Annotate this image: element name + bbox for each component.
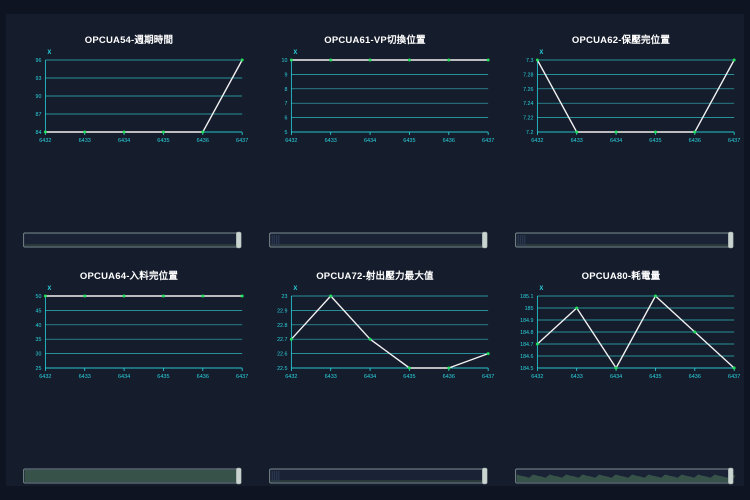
chart-cell-0: OPCUA54-週期時間 X96939087846432643364346435… [6,14,252,250]
svg-text:7.26: 7.26 [523,87,533,93]
svg-text:22.6: 22.6 [277,352,287,358]
svg-text:6435: 6435 [157,138,169,144]
svg-text:6435: 6435 [649,138,661,144]
svg-text:6437: 6437 [482,138,494,144]
datazoom-svg-3[interactable] [6,466,252,486]
svg-text:30: 30 [36,352,42,358]
svg-text:84: 84 [36,130,42,136]
svg-text:6435: 6435 [157,374,169,380]
datazoom-svg-0[interactable] [6,230,252,250]
svg-text:5: 5 [284,130,287,136]
svg-text:6432: 6432 [531,374,543,380]
svg-text:6437: 6437 [728,138,740,144]
svg-text:185: 185 [525,306,534,312]
svg-text:6432: 6432 [39,374,51,380]
svg-text:10: 10 [282,58,288,64]
chart-svg-1: X1098765643264336434643564366437 [252,44,498,154]
chart-card-opcua64[interactable]: OPCUA64-入料完位置 X5045403530256432643364346… [6,250,252,486]
svg-text:184.8: 184.8 [520,330,533,336]
svg-text:6436: 6436 [443,374,455,380]
svg-text:22.9: 22.9 [277,308,287,314]
svg-text:6433: 6433 [79,138,91,144]
svg-text:45: 45 [36,308,42,314]
svg-text:96: 96 [36,58,42,64]
datazoom-slider[interactable] [252,230,498,250]
chart-plot-area[interactable]: X2322.922.822.722.622.564326433643464356… [252,280,498,390]
chart-svg-3: X504540353025643264336434643564366437 [6,280,252,390]
svg-text:6432: 6432 [285,374,297,380]
svg-text:7.24: 7.24 [523,101,533,107]
svg-text:6434: 6434 [364,138,376,144]
svg-text:6434: 6434 [610,138,622,144]
svg-text:23: 23 [282,294,288,300]
svg-text:22.8: 22.8 [277,323,287,329]
chart-svg-5: X185.1185184.9184.8184.7184.6184.5643264… [498,280,744,390]
svg-text:87: 87 [36,112,42,118]
svg-text:6432: 6432 [285,138,297,144]
chart-cell-4: OPCUA72-射出壓力最大值 X2322.922.822.722.622.56… [252,250,498,486]
svg-text:6436: 6436 [197,374,209,380]
svg-text:90: 90 [36,94,42,100]
chart-card-opcua61[interactable]: OPCUA61-VP切換位置 X109876564326433643464356… [252,14,498,250]
svg-text:X: X [293,50,297,56]
svg-text:6437: 6437 [236,138,248,144]
datazoom-slider[interactable] [498,466,744,486]
chart-cell-2: OPCUA62-保壓完位置 X7.37.287.267.247.227.2643… [498,14,744,250]
chart-svg-0: X9693908784643264336434643564366437 [6,44,252,154]
datazoom-svg-2[interactable] [498,230,744,250]
datazoom-slider[interactable] [252,466,498,486]
chart-cell-3: OPCUA64-入料完位置 X5045403530256432643364346… [6,250,252,486]
svg-text:X: X [47,50,51,56]
svg-text:6432: 6432 [531,138,543,144]
datazoom-slider[interactable] [6,230,252,250]
datazoom-svg-5[interactable] [498,466,744,486]
chart-plot-area[interactable]: X1098765643264336434643564366437 [252,44,498,154]
datazoom-slider[interactable] [498,230,744,250]
chart-card-opcua72[interactable]: OPCUA72-射出壓力最大值 X2322.922.822.722.622.56… [252,250,498,486]
svg-text:6434: 6434 [610,374,622,380]
svg-text:6433: 6433 [79,374,91,380]
svg-text:6435: 6435 [403,374,415,380]
chart-grid: OPCUA54-週期時間 X96939087846432643364346435… [6,14,744,486]
svg-text:7: 7 [284,101,287,107]
svg-text:35: 35 [36,337,42,343]
datazoom-slider[interactable] [6,466,252,486]
svg-text:6433: 6433 [325,138,337,144]
svg-text:6437: 6437 [482,374,494,380]
chart-plot-area[interactable]: X9693908784643264336434643564366437 [6,44,252,154]
svg-text:93: 93 [36,76,42,82]
svg-text:40: 40 [36,323,42,329]
svg-text:184.9: 184.9 [520,318,533,324]
datazoom-svg-1[interactable] [252,230,498,250]
svg-text:6432: 6432 [39,138,51,144]
svg-text:6436: 6436 [689,374,701,380]
svg-text:6436: 6436 [689,138,701,144]
dashboard-page: OPCUA54-週期時間 X96939087846432643364346435… [0,0,750,500]
svg-text:X: X [539,50,543,56]
svg-text:6437: 6437 [728,374,740,380]
svg-text:9: 9 [284,72,287,78]
svg-text:7.22: 7.22 [523,116,533,122]
svg-text:6433: 6433 [325,374,337,380]
svg-text:X: X [539,286,543,292]
chart-plot-area[interactable]: X504540353025643264336434643564366437 [6,280,252,390]
datazoom-svg-4[interactable] [252,466,498,486]
chart-svg-2: X7.37.287.267.247.227.264326433643464356… [498,44,744,154]
svg-text:X: X [47,286,51,292]
svg-text:X: X [293,286,297,292]
svg-text:6435: 6435 [649,374,661,380]
svg-text:8: 8 [284,87,287,93]
svg-text:6436: 6436 [197,138,209,144]
svg-text:6434: 6434 [118,374,130,380]
svg-text:7.28: 7.28 [523,72,533,78]
svg-text:22.5: 22.5 [277,366,287,372]
svg-text:6435: 6435 [403,138,415,144]
svg-text:7.3: 7.3 [526,58,533,64]
svg-text:6433: 6433 [571,138,583,144]
svg-text:6: 6 [284,116,287,122]
chart-plot-area[interactable]: X7.37.287.267.247.227.264326433643464356… [498,44,744,154]
svg-text:22.7: 22.7 [277,337,287,343]
svg-text:6433: 6433 [571,374,583,380]
svg-text:184.7: 184.7 [520,342,533,348]
svg-text:7.2: 7.2 [526,130,533,136]
svg-text:185.1: 185.1 [520,294,533,300]
chart-card-opcua80[interactable]: OPCUA80-耗電量 X185.1185184.9184.8184.7184.… [498,250,744,486]
chart-cell-1: OPCUA61-VP切換位置 X109876564326433643464356… [252,14,498,250]
svg-text:184.6: 184.6 [520,354,533,360]
svg-text:184.5: 184.5 [520,366,533,372]
chart-card-opcua62[interactable]: OPCUA62-保壓完位置 X7.37.287.267.247.227.2643… [498,14,744,250]
svg-text:6434: 6434 [118,138,130,144]
svg-text:6437: 6437 [236,374,248,380]
svg-text:25: 25 [36,366,42,372]
chart-card-opcua54[interactable]: OPCUA54-週期時間 X96939087846432643364346435… [6,14,252,250]
svg-text:6436: 6436 [443,138,455,144]
chart-plot-area[interactable]: X185.1185184.9184.8184.7184.6184.5643264… [498,280,744,390]
chart-svg-4: X2322.922.822.722.622.564326433643464356… [252,280,498,390]
svg-text:6434: 6434 [364,374,376,380]
chart-cell-5: OPCUA80-耗電量 X185.1185184.9184.8184.7184.… [498,250,744,486]
svg-text:50: 50 [36,294,42,300]
